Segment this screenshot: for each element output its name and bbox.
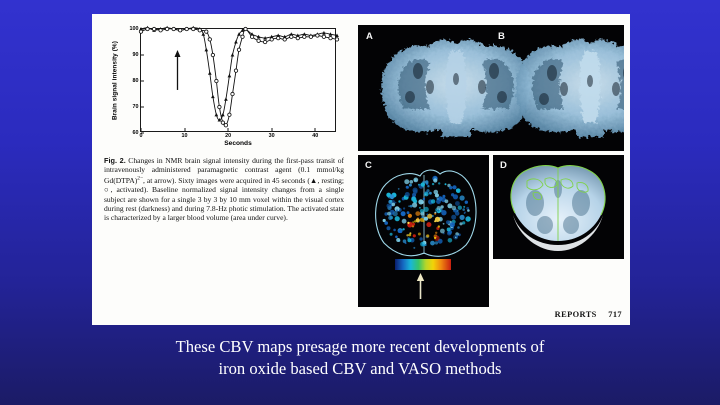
cbv-speckle [418, 233, 421, 236]
cbv-speckle [384, 221, 388, 225]
cbv-speckle [408, 205, 410, 207]
journal-footer-label: REPORTS [555, 310, 597, 319]
cbv-speckle [455, 201, 460, 206]
cbv-speckle [458, 206, 462, 210]
chart-data-point-open-circle [146, 27, 149, 30]
cbv-speckle [398, 200, 400, 202]
chart-data-point-filled-triangle [234, 40, 238, 44]
cbv-speckle [403, 239, 407, 243]
cbv-speckle [438, 225, 440, 227]
cbv-speckle [420, 218, 424, 222]
cbv-speckle [410, 205, 413, 208]
cbv-speckle [447, 228, 451, 232]
signal-intensity-chart: Brain signal intensity (%) 60708090100 0… [112, 24, 347, 149]
cbv-speckle [412, 202, 417, 207]
chart-data-point-filled-triangle [208, 71, 212, 75]
cbv-speckle [407, 238, 411, 242]
cbv-speckle [429, 192, 432, 195]
figure-caption-text: Changes in NMR brain signal intensity du… [104, 156, 344, 222]
chart-x-tick-label: 20 [225, 133, 231, 139]
figure-left-column: Brain signal intensity (%) 60708090100 0… [92, 14, 354, 325]
chart-y-tick-mark [141, 107, 144, 108]
cbv-speckle [393, 229, 396, 232]
panel-letter-d: D [500, 160, 507, 171]
cbv-speckle [442, 197, 444, 199]
cbv-speckle [419, 207, 421, 209]
cbv-speckle [445, 183, 447, 185]
chart-data-point-filled-triangle [228, 74, 232, 78]
cbv-speckle [424, 192, 429, 197]
chart-data-point-open-circle [211, 53, 214, 56]
cbv-speckle [456, 235, 458, 237]
cbv-speckle [447, 231, 452, 236]
cbv-speckle [433, 178, 437, 182]
brain-panel-d: D [493, 155, 624, 259]
cbv-speckle [434, 190, 439, 195]
cbv-speckle [426, 222, 431, 227]
chart-data-point-filled-triangle [204, 48, 208, 52]
cbv-speckle [387, 212, 391, 216]
chart-x-tick-label: 30 [269, 133, 275, 139]
journal-footer: REPORTS 717 [555, 310, 622, 319]
panel-letter-b: B [498, 31, 505, 42]
slide-caption-line-2: iron oxide based CBV and VASO methods [0, 358, 720, 380]
cbv-speckle [434, 213, 436, 215]
chart-data-point-open-circle [185, 27, 188, 30]
slide-caption: These CBV maps presage more recent devel… [0, 336, 720, 379]
chart-data-point-filled-triangle [221, 113, 225, 117]
cbv-speckle [420, 209, 424, 213]
cbv-speckle [398, 188, 400, 190]
cbv-speckle [457, 226, 460, 229]
chart-data-point-open-circle [241, 35, 244, 38]
chart-data-point-open-circle [172, 27, 175, 30]
chart-data-point-open-circle [277, 36, 280, 39]
chart-data-point-open-circle [303, 35, 306, 38]
chart-x-tick-label: 10 [182, 133, 188, 139]
chart-x-tick-mark [184, 128, 185, 131]
cbv-speckle [396, 238, 400, 242]
cbv-speckle [438, 182, 440, 184]
cbv-speckle [407, 186, 409, 188]
chart-y-tick-label: 100 [130, 26, 142, 32]
chart-x-tick-label: 40 [312, 133, 318, 139]
cbv-speckle [448, 238, 453, 243]
chart-data-point-open-circle [165, 27, 168, 30]
chart-data-point-open-circle [335, 38, 338, 41]
cbv-speckle [446, 220, 450, 224]
cbv-speckle [463, 206, 465, 208]
figure-caption: Fig. 2. Changes in NMR brain signal inte… [104, 156, 344, 223]
cbv-speckle [413, 247, 415, 249]
chart-data-point-open-circle [159, 29, 162, 32]
chart-data-point-open-circle [208, 38, 211, 41]
cbv-speckle [410, 180, 414, 184]
cbv-speckle [403, 207, 405, 209]
cbv-speckle [447, 203, 452, 208]
chart-data-point-open-circle [215, 79, 218, 82]
cbv-speckle [459, 222, 462, 225]
cbv-speckle [418, 199, 423, 204]
cbv-speckle [388, 216, 392, 220]
cbv-speckle [467, 209, 470, 212]
chart-data-point-open-circle [192, 27, 195, 30]
cbv-speckle [420, 242, 425, 247]
cbv-speckle [400, 231, 402, 233]
cbv-speckle [460, 215, 465, 220]
chart-data-point-open-circle [329, 36, 332, 39]
injection-arrow-icon [174, 47, 181, 93]
slide-caption-line-1: These CBV maps presage more recent devel… [0, 336, 720, 358]
chart-x-tick-label: 0 [140, 133, 143, 139]
cbv-speckle [411, 197, 416, 202]
cbv-speckle [426, 234, 429, 237]
cbv-speckle [443, 223, 445, 225]
panel-letter-c: C [365, 160, 372, 171]
chart-data-point-open-circle [234, 69, 237, 72]
brain-panel-c: C [358, 155, 489, 307]
chart-plot-frame: 60708090100 010203040 [140, 28, 336, 132]
cbv-speckle [409, 184, 412, 187]
figure-caption-label: Fig. 2. [104, 156, 126, 165]
cbv-speckle [396, 209, 398, 211]
chart-data-point-open-circle [316, 34, 319, 37]
cbv-speckle [441, 210, 446, 215]
cbv-speckle [445, 199, 449, 203]
cbv-speckle [390, 233, 393, 236]
cbv-speckle [426, 214, 428, 216]
chart-data-point-open-circle [152, 27, 155, 30]
chart-data-point-open-circle [296, 36, 299, 39]
cbv-speckle [462, 208, 465, 211]
cbv-speckle [435, 217, 440, 222]
chart-data-point-open-circle [309, 35, 312, 38]
cbv-speckle [455, 211, 459, 215]
cbv-speckle [464, 211, 466, 213]
cbv-speckle [466, 217, 468, 219]
chart-y-tick-mark [141, 29, 144, 30]
chart-series-layer [141, 29, 337, 133]
chart-y-tick-label: 90 [133, 52, 142, 58]
brain-panel-ab: A B [358, 25, 624, 151]
cbv-speckle [430, 241, 435, 246]
chart-x-tick-mark [141, 128, 142, 131]
cbv-speckle [387, 226, 391, 230]
cbv-speckle [424, 207, 429, 212]
chart-data-point-open-circle [224, 124, 227, 127]
cbv-speckle [401, 211, 406, 216]
chart-data-point-open-circle [250, 35, 253, 38]
cbv-speckle [465, 216, 470, 221]
cbv-speckle [395, 216, 400, 221]
chart-data-point-open-circle [237, 48, 240, 51]
cbv-speckle [412, 223, 415, 226]
chart-x-tick-mark [315, 128, 316, 131]
cbv-speckle [419, 237, 422, 240]
chart-y-tick-label: 70 [133, 104, 142, 110]
journal-footer-page: 717 [608, 310, 622, 319]
cbv-speckle [387, 204, 391, 208]
cbv-speckle [390, 200, 392, 202]
cbv-speckle [427, 185, 429, 187]
cbv-speckle [437, 198, 439, 200]
cbv-speckle [392, 203, 396, 207]
chart-data-point-open-circle [198, 29, 201, 32]
cbv-change-colorbar [395, 259, 451, 270]
chart-x-tick-mark [228, 128, 229, 131]
cbv-speckle [423, 198, 425, 200]
chart-data-point-open-circle [231, 92, 234, 95]
cbv-speckle [465, 201, 468, 204]
cbv-speckle [435, 241, 438, 244]
chart-data-point-open-circle [244, 27, 247, 30]
chart-data-point-open-circle [218, 105, 221, 108]
chart-y-tick-mark [141, 81, 144, 82]
chart-data-point-open-circle [322, 35, 325, 38]
chart-data-point-open-circle [270, 38, 273, 41]
cbv-speckle [415, 211, 420, 216]
cbv-speckle [402, 219, 407, 224]
cbv-speckle [402, 228, 404, 230]
cbv-speckle [408, 214, 412, 218]
cbv-speckle [437, 209, 439, 211]
cbv-speckle [434, 237, 436, 239]
chart-y-tick-mark [141, 55, 144, 56]
cbv-maps-ab-image [358, 25, 624, 151]
cbv-speckle [452, 185, 456, 189]
chart-data-point-open-circle [263, 40, 266, 43]
chart-series-line-resting [141, 28, 337, 120]
chart-data-point-filled-triangle [215, 113, 219, 117]
cbv-speckle [432, 183, 434, 185]
chart-series-line-activated [141, 29, 337, 126]
chart-data-point-open-circle [283, 38, 286, 41]
cbv-speckle [449, 186, 452, 189]
chart-data-point-open-circle [228, 113, 231, 116]
cbv-speckle [453, 194, 458, 199]
cbv-speckle [413, 178, 418, 183]
colorbar-up-arrow-icon [416, 273, 425, 299]
cbv-speckle [456, 188, 461, 193]
cbv-speckle [440, 205, 443, 208]
cbv-speckle [390, 194, 394, 198]
chart-data-point-filled-triangle [224, 97, 228, 101]
chart-data-point-open-circle [257, 39, 260, 42]
cbv-speckle [450, 222, 455, 227]
chart-data-point-open-circle [290, 35, 293, 38]
cbv-speckle [405, 192, 410, 197]
cbv-speckle [408, 234, 411, 237]
chart-data-point-filled-triangle [211, 95, 215, 99]
cbv-speckle [431, 199, 435, 203]
chart-data-point-open-circle [179, 29, 182, 32]
cbv-speckle [451, 215, 456, 220]
cbv-speckle [425, 180, 429, 184]
cbv-speckle [435, 232, 437, 234]
cbv-speckle [413, 234, 416, 237]
cbv-speckle [404, 179, 409, 184]
chart-data-point-open-circle [205, 30, 208, 33]
panel-letter-a: A [366, 31, 373, 42]
cbv-speckle [421, 182, 425, 186]
figure-right-column: A B [354, 14, 630, 325]
chart-data-point-open-circle [221, 121, 224, 124]
chart-y-axis-label: Brain signal intensity (%) [108, 28, 122, 134]
chart-data-point-filled-triangle [231, 53, 235, 57]
cbv-speckle [413, 188, 418, 193]
cbv-speckle [414, 220, 416, 222]
chart-y-tick-label: 80 [133, 78, 142, 84]
chart-x-tick-mark [271, 128, 272, 131]
cbv-speckle-overlay [383, 176, 471, 249]
cbv-speckle [406, 234, 408, 236]
anatomical-mr-image [493, 155, 624, 259]
cbv-speckle [395, 236, 398, 239]
cbv-speckle [440, 229, 445, 234]
figure-panel: Brain signal intensity (%) 60708090100 0… [92, 14, 630, 325]
cbv-speckle [407, 211, 410, 214]
cbv-speckle [421, 216, 423, 218]
cbv-speckle [409, 222, 412, 225]
cbv-speckle [417, 217, 419, 219]
cbv-speckle [460, 195, 465, 200]
chart-x-axis-label: Seconds [140, 140, 336, 147]
